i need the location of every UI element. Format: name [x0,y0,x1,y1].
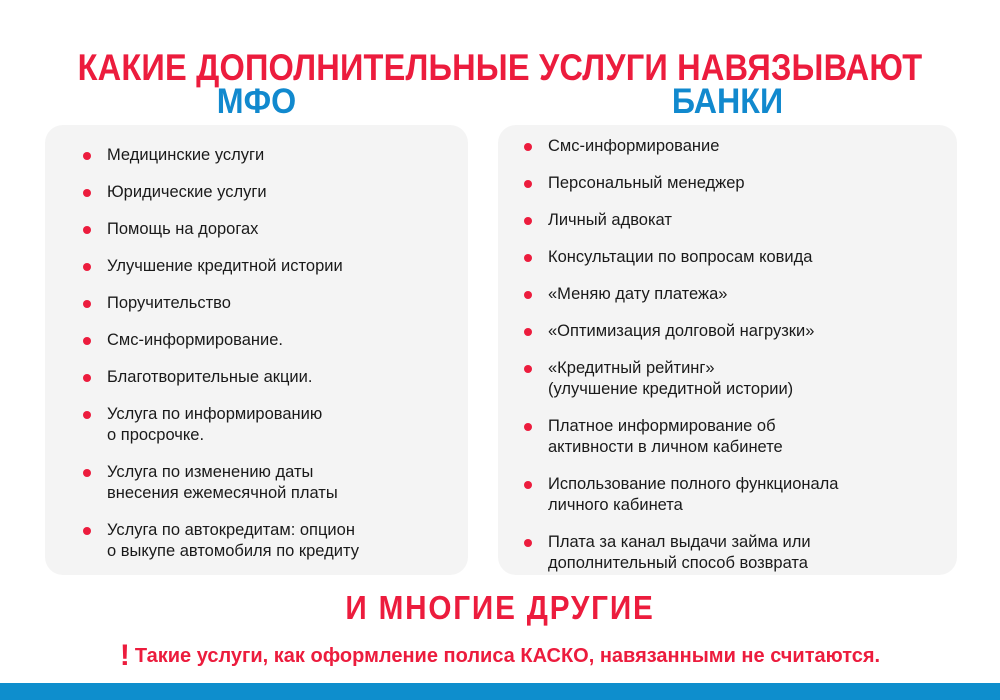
footnote-text: Такие услуги, как оформление полиса КАСК… [135,645,880,667]
mfo-list-item: Улучшение кредитной истории [83,256,454,277]
banks-list-item: «Кредитный рейтинг»(улучшение кредитной … [524,358,943,400]
mfo-list-item: Благотворительные акции. [83,367,454,388]
list-item-line: личного кабинета [548,495,943,516]
list-item-line: Услуга по автокредитам: опцион [107,521,355,539]
card-banks: Смс-информированиеПерсональный менеджерЛ… [498,125,957,575]
banks-list-item: Платное информирование обактивности в ли… [524,416,943,458]
banks-list-item: Личный адвокат [524,210,943,231]
list-item-line: «Меняю дату платежа» [548,285,727,303]
banks-list-item: «Оптимизация долговой нагрузки» [524,321,943,342]
banks-list-item: Использование полного функционалаличного… [524,474,943,516]
list-item-line: Смс-информирование. [107,331,283,349]
list-item-line: «Оптимизация долговой нагрузки» [548,322,814,340]
and-many-others-heading: И МНОГИЕ ДРУГИЕ [50,591,950,624]
list-item-line: дополнительный способ возврата [548,553,943,574]
list-item-line: (улучшение кредитной истории) [548,379,943,400]
mfo-list-item: Поручительство [83,293,454,314]
column-heading-mfo: МФО [62,84,451,119]
mfo-list-item: Смс-информирование. [83,330,454,351]
list-item-line: Услуга по информированию [107,405,322,423]
mfo-list-item: Услуга по информированиюо просрочке. [83,404,454,446]
list-item-line: Юридические услуги [107,183,267,201]
list-item-line: Использование полного функционала [548,475,838,493]
banks-list-item: Смс-информирование [524,136,943,157]
banks-list-item: Плата за канал выдачи займа илидополните… [524,532,943,574]
list-item-line: Платное информирование об [548,417,776,435]
list-item-line: Консультации по вопросам ковида [548,248,812,266]
bullet-list-banks: Смс-информированиеПерсональный менеджерЛ… [524,136,943,574]
list-item-line: Поручительство [107,294,231,312]
list-item-line: Смс-информирование [548,137,719,155]
list-item-line: Плата за канал выдачи займа или [548,533,811,551]
bullet-list-mfo: Медицинские услугиЮридические услугиПомо… [83,145,454,562]
list-item-line: Услуга по изменению даты [107,463,313,481]
list-item-line: активности в личном кабинете [548,437,943,458]
mfo-list-item: Услуга по автокредитам: опционо выкупе а… [83,520,454,562]
card-mfo: Медицинские услугиЮридические услугиПомо… [45,125,468,575]
list-item-line: Помощь на дорогах [107,220,258,238]
list-item-line: о выкупе автомобиля по кредиту [107,541,454,562]
mfo-list-item: Юридические услуги [83,182,454,203]
list-item-line: Улучшение кредитной истории [107,257,343,275]
exclamation-icon: ! [120,639,130,672]
page-title: КАКИЕ ДОПОЛНИТЕЛЬНЫЕ УСЛУГИ НАВЯЗЫВАЮТ [60,49,940,86]
infographic-root: КАКИЕ ДОПОЛНИТЕЛЬНЫЕ УСЛУГИ НАВЯЗЫВАЮТ М… [0,0,1000,700]
mfo-list-item: Медицинские услуги [83,145,454,166]
list-item-line: Благотворительные акции. [107,368,312,386]
list-item-line: внесения ежемесячной платы [107,483,454,504]
list-item-line: «Кредитный рейтинг» [548,359,715,377]
column-heading-banks: БАНКИ [516,84,938,119]
bottom-accent-bar [0,683,1000,700]
list-item-line: о просрочке. [107,425,454,446]
footnote: !Такие услуги, как оформление полиса КАС… [0,638,1000,668]
banks-list-item: Персональный менеджер [524,173,943,194]
list-item-line: Медицинские услуги [107,146,264,164]
banks-list-item: Консультации по вопросам ковида [524,247,943,268]
banks-list-item: «Меняю дату платежа» [524,284,943,305]
mfo-list-item: Услуга по изменению датывнесения ежемеся… [83,462,454,504]
list-item-line: Личный адвокат [548,211,672,229]
list-item-line: Персональный менеджер [548,174,745,192]
mfo-list-item: Помощь на дорогах [83,219,454,240]
